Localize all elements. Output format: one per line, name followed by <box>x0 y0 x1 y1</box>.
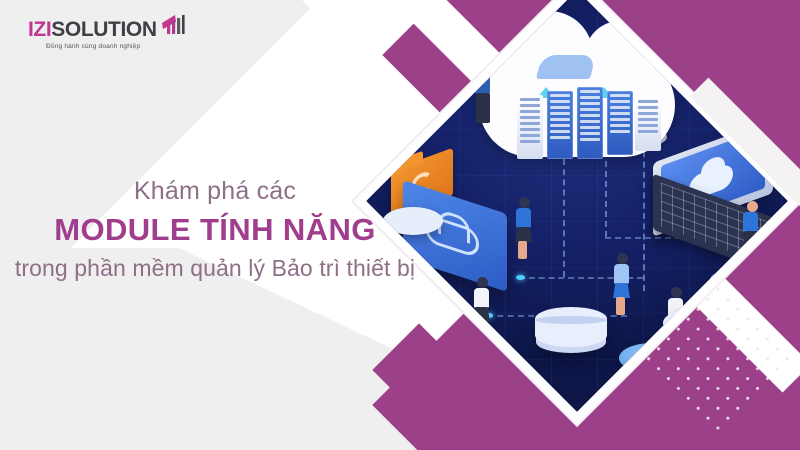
database-cylinder-1 <box>535 307 607 347</box>
headline-line-3: trong phần mềm quản lý Bảo trì thiết bị <box>0 254 430 284</box>
server-rack-blue-3 <box>607 91 633 155</box>
decor-gray-wedge <box>326 300 496 450</box>
brand-name-izi: IZI <box>28 18 51 42</box>
decor-net-node-1 <box>516 275 525 280</box>
headline-line-2: MODULE TÍNH NĂNG <box>0 209 430 251</box>
decor-net-line-2 <box>605 151 607 237</box>
brand-logo[interactable]: IZI SOLUTION Đồng hành cùng doanh nghiệp <box>28 18 186 50</box>
disk-shape-2 <box>619 343 685 373</box>
bar-chart-flag-icon <box>160 14 186 38</box>
decor-magenta-sliver <box>439 391 527 450</box>
decor-net-line-3 <box>643 141 645 291</box>
decor-magenta-small-diamond <box>372 323 465 416</box>
desk-unit <box>663 309 723 337</box>
headline-line-1: Khám phá các <box>0 176 430 207</box>
server-rack-white-1 <box>517 95 543 159</box>
cloud-hand-shape <box>536 55 596 79</box>
brand-logo-row: IZI SOLUTION <box>28 18 186 42</box>
server-rack-blue-1 <box>547 91 573 159</box>
banner-canvas: IZI SOLUTION Đồng hành cùng doanh nghiệp… <box>0 0 800 450</box>
server-rack-white-2 <box>635 97 661 151</box>
headline-block: Khám phá các MODULE TÍNH NĂNG trong phần… <box>0 176 430 284</box>
disk-shape-3 <box>709 267 775 297</box>
decor-net-line-1 <box>563 159 565 277</box>
illustration-scene <box>367 0 787 411</box>
brand-tagline: Đồng hành cùng doanh nghiệp <box>46 43 140 50</box>
brand-name-solution: SOLUTION <box>51 18 156 42</box>
server-rack-blue-2 <box>577 87 603 159</box>
